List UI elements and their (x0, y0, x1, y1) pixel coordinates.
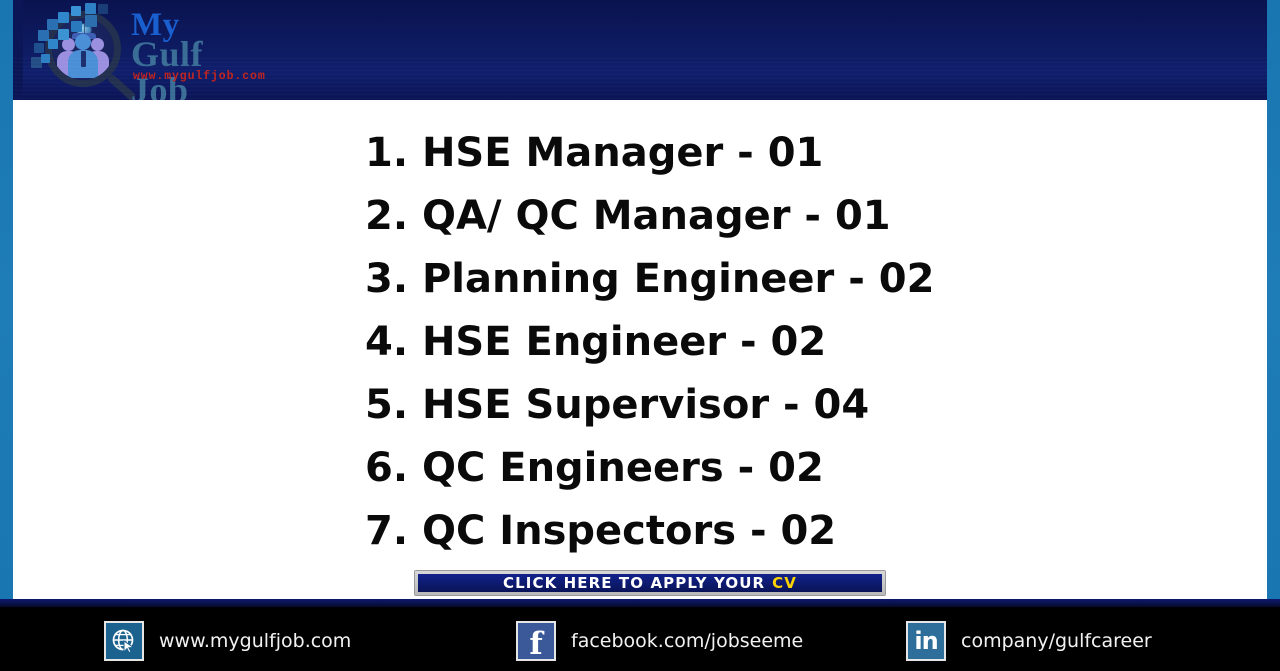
pixel-square-icon (85, 3, 96, 14)
pixel-square-icon (71, 21, 82, 32)
list-item: 2. QA/ QC Manager - 01 (365, 185, 1105, 248)
linkedin-icon: in (906, 621, 946, 661)
footer-divider (0, 599, 1280, 607)
pixel-square-icon (71, 6, 81, 16)
list-item: 6. QC Engineers - 02 (365, 437, 1105, 500)
footer-bar: www.mygulfjob.com f facebook.com/jobseem… (0, 607, 1280, 671)
pixel-square-icon (58, 12, 69, 23)
main-content: 1. HSE Manager - 01 2. QA/ QC Manager - … (13, 100, 1267, 599)
footer-linkedin-link[interactable]: in company/gulfcareer (906, 621, 1152, 661)
magnifier-glass-icon (52, 18, 114, 80)
person-right-head-icon (91, 38, 104, 51)
list-item: 4. HSE Engineer - 02 (365, 311, 1105, 374)
footer-facebook-label: facebook.com/jobseeme (571, 630, 803, 652)
footer-website-label: www.mygulfjob.com (159, 630, 351, 652)
header-inner-strip (13, 0, 23, 100)
header-banner: My Gulf Job www.mygulfjob.com (13, 0, 1267, 100)
globe-cursor-icon (104, 621, 144, 661)
list-item: 1. HSE Manager - 01 (365, 122, 1105, 185)
apply-cv-button[interactable]: CLICK HERE TO APPLY YOUR CV (415, 571, 885, 595)
left-border-accent (0, 0, 13, 605)
pixel-square-icon (98, 4, 108, 14)
facebook-icon: f (516, 621, 556, 661)
job-vacancy-list: 1. HSE Manager - 01 2. QA/ QC Manager - … (365, 122, 1105, 563)
apply-cv-highlight: CV (772, 574, 797, 592)
facebook-glyph: f (529, 629, 542, 660)
person-center-head-icon (75, 34, 91, 50)
logo-text-gulf: Gulf Job (131, 36, 267, 100)
logo-text-url: www.mygulfjob.com (133, 71, 266, 83)
footer-facebook-link[interactable]: f facebook.com/jobseeme (516, 621, 803, 661)
person-center-tie-icon (81, 51, 86, 67)
pixel-square-icon (85, 15, 97, 27)
magnifier-people-icon (27, 2, 147, 98)
pixel-square-icon (41, 54, 50, 63)
pixel-square-icon (58, 29, 69, 40)
pixel-square-icon (34, 43, 44, 53)
list-item: 7. QC Inspectors - 02 (365, 500, 1105, 563)
pixel-square-icon (47, 19, 58, 30)
right-border-accent (1267, 0, 1280, 605)
pixel-square-icon (48, 39, 58, 49)
footer-website-link[interactable]: www.mygulfjob.com (104, 621, 351, 661)
footer-linkedin-label: company/gulfcareer (961, 630, 1152, 652)
list-item: 5. HSE Supervisor - 04 (365, 374, 1105, 437)
list-item: 3. Planning Engineer - 02 (365, 248, 1105, 311)
site-logo[interactable]: My Gulf Job www.mygulfjob.com (27, 2, 267, 98)
job-poster-page: My Gulf Job www.mygulfjob.com 1. HSE Man… (0, 0, 1280, 671)
apply-cv-label: CLICK HERE TO APPLY YOUR (503, 574, 765, 592)
linkedin-glyph: in (914, 629, 937, 653)
apply-cv-button-inner: CLICK HERE TO APPLY YOUR CV (418, 574, 882, 592)
